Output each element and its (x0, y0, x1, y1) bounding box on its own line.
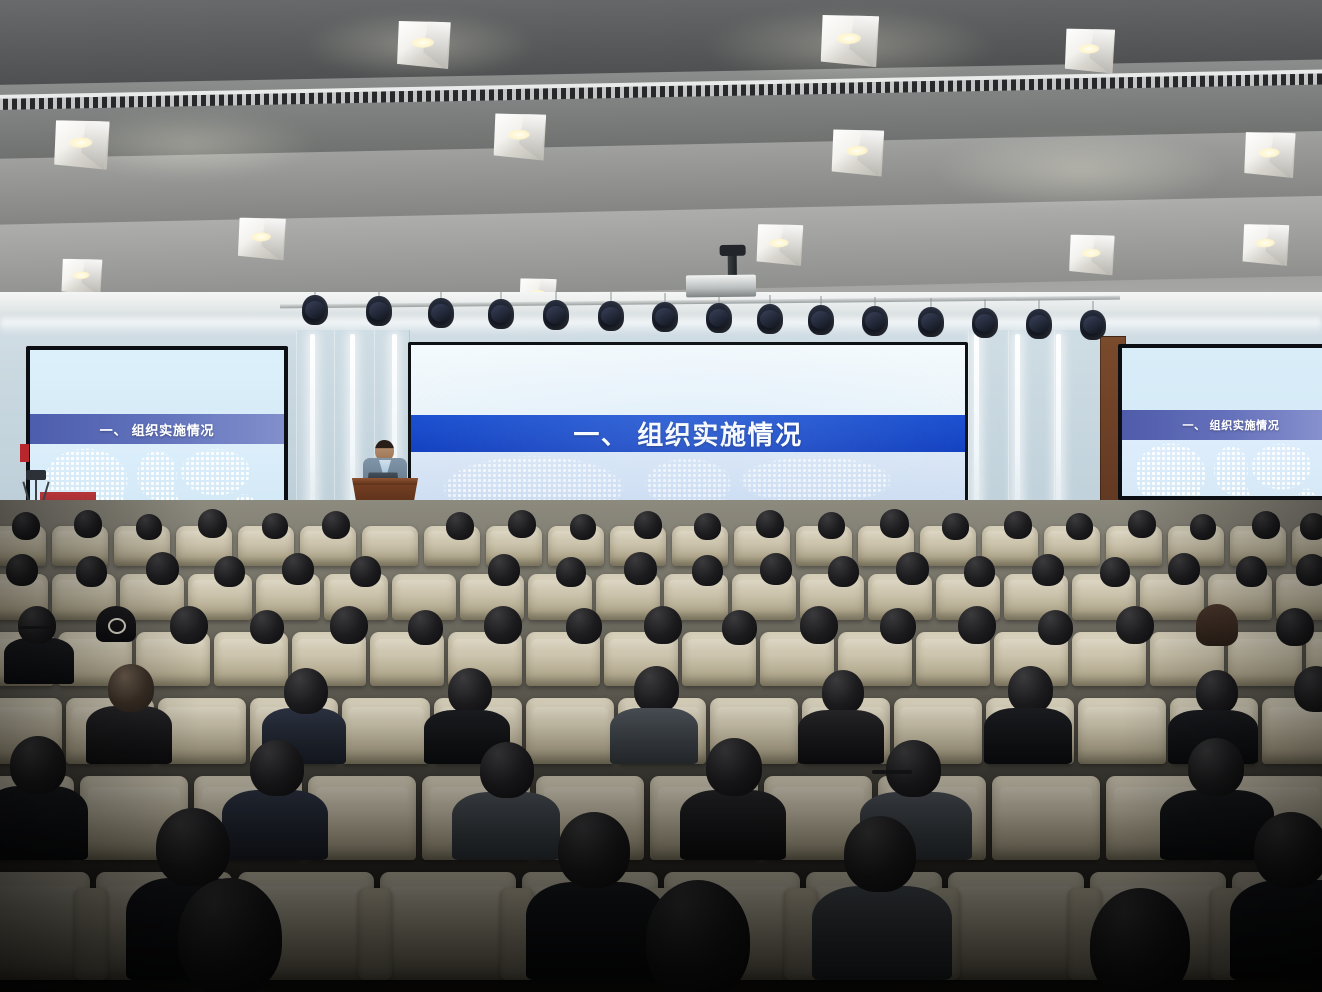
slide-title-text: 一、 组织实施情况 (100, 420, 215, 439)
ceiling-light-fixture (237, 216, 288, 262)
stage-light (706, 303, 732, 333)
seat (992, 776, 1100, 860)
attendee-headscarf (1196, 604, 1238, 646)
stage-light (488, 299, 514, 329)
wall-light-strip (350, 334, 355, 524)
attendee-head (844, 816, 916, 892)
attendee-head (146, 552, 179, 585)
slide-top-area (411, 345, 965, 415)
attendee-head (1008, 666, 1053, 713)
attendee-body (812, 886, 952, 980)
stage-light (302, 295, 328, 325)
attendee-head (896, 552, 929, 585)
ceiling-glow (930, 130, 1230, 210)
seat-armrest (74, 888, 108, 980)
attendee-head (692, 555, 723, 586)
world-map-motif (1126, 440, 1322, 496)
stage-light (972, 308, 998, 338)
wall-panel (296, 330, 336, 526)
wall-sign (20, 444, 29, 462)
auditorium-photo: 一、 组织实施情况 一、 组织实施情况 一、 组织实施情况 (0, 0, 1322, 992)
attendee-head (1066, 513, 1093, 540)
attendee-head (644, 606, 682, 644)
attendee-head (886, 740, 941, 797)
attendee-head (6, 554, 38, 586)
attendee-head (566, 608, 602, 644)
attendee-head (1276, 608, 1314, 646)
attendee-head (214, 556, 245, 587)
attendee-head (284, 668, 328, 714)
attendee-head (756, 510, 784, 538)
ceiling-light-fixture (53, 118, 112, 171)
wall-light-strip (1015, 334, 1020, 524)
wall-light-strip (1056, 334, 1061, 522)
ceiling-light-fixture (830, 128, 886, 178)
slide-title-text: 一、 组织实施情况 (573, 415, 802, 452)
wall-light-strip (974, 334, 979, 524)
attendee-head (488, 554, 520, 586)
attendee-head (624, 552, 657, 585)
attendee-head (818, 512, 845, 539)
slide-bottom-area (1122, 440, 1322, 496)
attendee-body (984, 708, 1072, 764)
attendee-body (222, 790, 328, 860)
attendee-head (570, 514, 596, 540)
attendee-head (448, 668, 492, 714)
attendee-head (446, 512, 474, 540)
attendee-head (942, 513, 969, 540)
attendee-head (558, 812, 630, 888)
left-projection-screen: 一、 组织实施情况 (26, 346, 288, 506)
attendee-head (74, 510, 102, 538)
slide-title-band: 一、 组织实施情况 (1122, 410, 1322, 440)
seat (526, 698, 614, 764)
attendee-cap (96, 606, 136, 642)
attendee-head (282, 553, 314, 585)
attendee-head (880, 608, 916, 644)
attendee-head (1188, 738, 1244, 796)
stage-light (598, 301, 624, 331)
podium-ledge (348, 478, 422, 485)
stage-light (918, 307, 944, 337)
attendee-head (350, 556, 381, 587)
attendee-body (0, 786, 88, 860)
attendee-head (1100, 557, 1130, 587)
attendee-head (1252, 511, 1280, 539)
attendee-head (250, 740, 304, 796)
ceiling-light-fixture (755, 223, 804, 268)
attendee-head (1190, 514, 1216, 540)
attendee-head (136, 514, 162, 540)
attendee-head (706, 738, 762, 796)
attendee-head (1090, 888, 1190, 992)
seat-armrest (358, 888, 392, 980)
attendee-head (1296, 554, 1322, 586)
attendee-head (1300, 513, 1322, 540)
attendee-head (556, 557, 586, 587)
eyeglasses-icon (20, 626, 54, 629)
slide-content-left: 一、 组织实施情况 (30, 350, 284, 502)
stage-light (1026, 309, 1052, 339)
attendee-head (828, 556, 859, 587)
slide-content-right: 一、 组织实施情况 (1122, 348, 1322, 496)
stage-light (757, 304, 783, 334)
attendee-head (1128, 510, 1156, 538)
stage-light (862, 306, 888, 336)
attendee-head (1116, 606, 1154, 644)
attendee-head (822, 670, 864, 714)
stage-light (1080, 310, 1106, 340)
attendee-head (250, 610, 284, 644)
attendee-head (1254, 812, 1322, 888)
eyeglasses-icon (872, 770, 912, 774)
attendee-body (86, 706, 172, 764)
attendee-head (10, 736, 66, 794)
attendee-body (526, 882, 666, 980)
wall-panel (1054, 330, 1102, 526)
attendee-body (1230, 880, 1322, 980)
attendee-head (12, 512, 40, 540)
attendee-head (1038, 610, 1073, 645)
ceiling (0, 0, 1322, 300)
attendee-head (634, 511, 662, 539)
ceiling-light-fixture (492, 112, 548, 162)
slide-title-band: 一、 组织实施情况 (411, 415, 965, 452)
attendee-head (480, 742, 534, 798)
ceiling-light-fixture (1068, 233, 1116, 277)
right-projection-screen: 一、 组织实施情况 (1118, 344, 1322, 500)
wall-light-strip (310, 334, 315, 524)
attendee-head (322, 511, 350, 539)
ceiling-light-fixture (819, 13, 881, 69)
attendee-head (178, 878, 282, 992)
attendee-head (800, 606, 838, 644)
attendee-head (1236, 556, 1267, 587)
attendee-body (4, 638, 74, 684)
attendee-head (76, 556, 107, 587)
ceiling-light-fixture (396, 19, 453, 71)
attendee-body (798, 710, 884, 764)
attendee-head (170, 606, 208, 644)
stage-light (428, 298, 454, 328)
attendee-head (484, 606, 522, 644)
attendee-head (646, 880, 750, 992)
attendee-head (18, 606, 56, 644)
attendee-head (156, 808, 230, 886)
audience-seating (0, 500, 1322, 992)
attendee-head (694, 513, 721, 540)
attendee-body (610, 708, 698, 764)
stage-light (652, 302, 678, 332)
seat (948, 872, 1084, 980)
camera-body (26, 470, 46, 480)
attendee-head (408, 610, 443, 645)
stage-light (366, 296, 392, 326)
attendee-head (508, 510, 536, 538)
slide-title-text: 一、 组织实施情况 (1183, 417, 1280, 433)
ceiling-light-fixture (60, 257, 103, 296)
main-led-wall: 一、 组织实施情况 (408, 342, 968, 514)
attendee-head (1032, 554, 1064, 586)
stage-light (808, 305, 834, 335)
attendee-head (1004, 511, 1032, 539)
stage-light (543, 300, 569, 330)
slide-title-band: 一、 组织实施情况 (30, 414, 284, 444)
attendee-head (958, 606, 996, 644)
attendee-head (330, 606, 368, 644)
attendee-head (634, 666, 679, 713)
attendee-body (680, 790, 786, 860)
ceiling-light-fixture (1243, 130, 1297, 179)
attendee-head (262, 513, 288, 539)
attendee-body (452, 792, 560, 860)
attendee-head (108, 664, 154, 712)
attendee-head (760, 553, 792, 585)
slide-top-area (30, 350, 284, 414)
attendee-head (880, 509, 909, 538)
slide-content-main: 一、 组织实施情况 (411, 345, 965, 511)
ceiling-light-fixture (1063, 27, 1116, 75)
attendee-head (1168, 553, 1200, 585)
ceiling-light-fixture (1241, 223, 1290, 268)
attendee-head (722, 610, 757, 645)
seat (380, 872, 516, 980)
attendee-head (1196, 670, 1238, 714)
ceiling-projector (686, 275, 756, 298)
slide-top-area (1122, 348, 1322, 410)
attendee-head (198, 509, 227, 538)
attendee-head (964, 556, 995, 587)
seat (342, 698, 430, 764)
seat (1078, 698, 1166, 764)
